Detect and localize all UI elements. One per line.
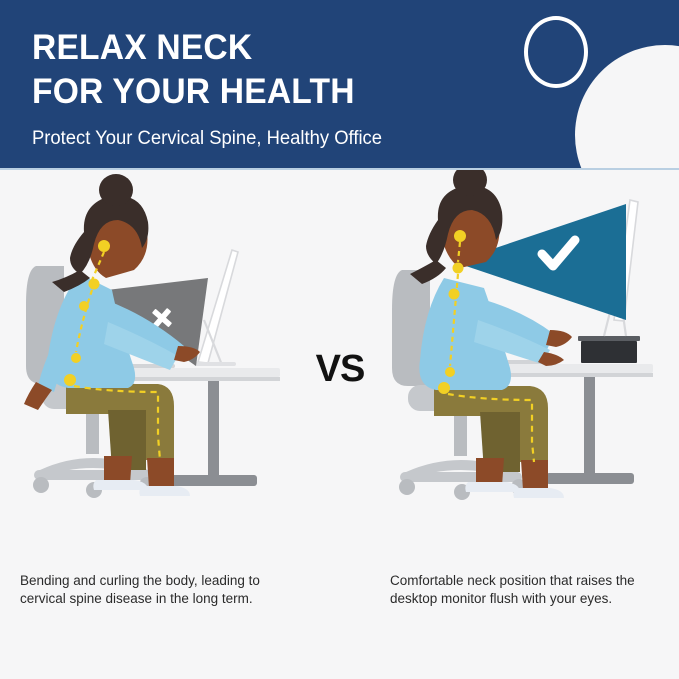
circle-filled-icon xyxy=(575,45,679,170)
head-left xyxy=(52,174,148,292)
bad-posture-svg xyxy=(8,170,308,560)
page-title-line-1: RELAX NECK xyxy=(32,26,483,70)
header-text-block: RELAX NECK FOR YOUR HEALTH Protect Your … xyxy=(32,26,502,152)
caption-good-posture: Comfortable neck position that raises th… xyxy=(390,572,679,608)
vs-label: VS xyxy=(305,348,375,391)
header-banner: RELAX NECK FOR YOUR HEALTH Protect Your … xyxy=(0,0,679,170)
caption-good-line-2: desktop monitor flush with your eyes. xyxy=(390,590,679,608)
caption-bad-line-2: cervical spine disease in the long term. xyxy=(20,590,310,608)
caption-good-line-1: Comfortable neck position that raises th… xyxy=(390,572,679,590)
infographic-page: RELAX NECK FOR YOUR HEALTH Protect Your … xyxy=(0,0,679,679)
circle-outline-icon xyxy=(524,16,588,88)
good-posture-illustration xyxy=(378,170,678,560)
page-title-line-2: FOR YOUR HEALTH xyxy=(32,70,483,114)
page-subtitle: Protect Your Cervical Spine, Healthy Off… xyxy=(32,126,488,152)
caption-bad-posture: Bending and curling the body, leading to… xyxy=(20,572,310,608)
comparison-area: VS xyxy=(0,170,679,560)
monitor-riser xyxy=(578,336,640,363)
hand-right xyxy=(546,330,572,347)
good-posture-svg xyxy=(378,170,678,560)
bad-posture-illustration xyxy=(8,170,308,560)
caption-bad-line-1: Bending and curling the body, leading to xyxy=(20,572,310,590)
